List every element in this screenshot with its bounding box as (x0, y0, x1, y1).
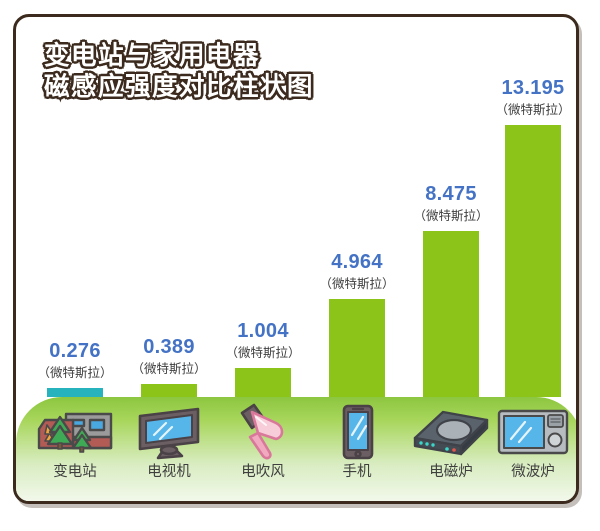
bar-value-label: 0.389 (143, 337, 195, 357)
category-label: 电视机 (147, 465, 191, 480)
bar-value-label: 4.964 (331, 252, 383, 272)
category-cell-substation: 变电站 (28, 397, 122, 504)
category-icon-row: 变电站 (16, 397, 579, 504)
category-label: 变电站 (53, 465, 97, 480)
bar-television (141, 384, 197, 397)
substation-icon (33, 401, 117, 463)
bar-value-label: 8.475 (425, 184, 477, 204)
category-label: 微波炉 (511, 465, 555, 480)
bar-column-television: 0.389 （微特斯拉） (122, 337, 216, 398)
bar-induction-cooker (423, 231, 479, 397)
infographic-bar-chart: 变电站与家用电器 磁感应强度对比柱状图 0.276 （微特斯拉） 0.389 （… (0, 0, 600, 531)
plot-area: 0.276 （微特斯拉） 0.389 （微特斯拉） 1.004 （微特斯拉） 4… (16, 17, 579, 397)
bar-smartphone (329, 299, 385, 397)
bar-value-label: 13.195 (502, 78, 565, 98)
category-label: 手机 (343, 465, 372, 480)
bar-unit-label: （微特斯拉） (131, 363, 206, 376)
bar-value-label: 0.276 (49, 341, 101, 361)
bar-substation (47, 388, 103, 397)
bar-unit-label: （微特斯拉） (225, 347, 300, 360)
category-label: 电磁炉 (429, 465, 473, 480)
category-cell-induction-cooker: 电磁炉 (404, 397, 498, 504)
bar-value-label: 1.004 (237, 321, 289, 341)
hairdryer-icon (232, 401, 294, 463)
category-cell-smartphone: 手机 (310, 397, 404, 504)
chart-frame: 变电站与家用电器 磁感应强度对比柱状图 0.276 （微特斯拉） 0.389 （… (13, 14, 579, 504)
microwave-icon (494, 401, 572, 463)
smartphone-icon (334, 401, 380, 463)
bar-unit-label: （微特斯拉） (495, 104, 570, 117)
induction-cooker-icon (409, 401, 493, 463)
category-base-panel: 变电站 (16, 397, 579, 504)
category-cell-microwave: 微波炉 (486, 397, 579, 504)
bar-unit-label: （微特斯拉） (37, 367, 112, 380)
television-icon (132, 401, 206, 463)
bar-column-smartphone: 4.964 （微特斯拉） (310, 252, 404, 398)
bar-microwave (505, 125, 561, 397)
bar-unit-label: （微特斯拉） (319, 278, 394, 291)
category-label: 电吹风 (241, 465, 285, 480)
category-cell-television: 电视机 (122, 397, 216, 504)
bar-unit-label: （微特斯拉） (413, 210, 488, 223)
category-cell-hairdryer: 电吹风 (216, 397, 310, 504)
bar-column-microwave: 13.195 （微特斯拉） (486, 78, 579, 398)
bar-column-substation: 0.276 （微特斯拉） (28, 341, 122, 398)
bar-column-induction-cooker: 8.475 （微特斯拉） (404, 184, 498, 398)
bar-column-hairdryer: 1.004 （微特斯拉） (216, 321, 310, 398)
bar-hairdryer (235, 368, 291, 397)
